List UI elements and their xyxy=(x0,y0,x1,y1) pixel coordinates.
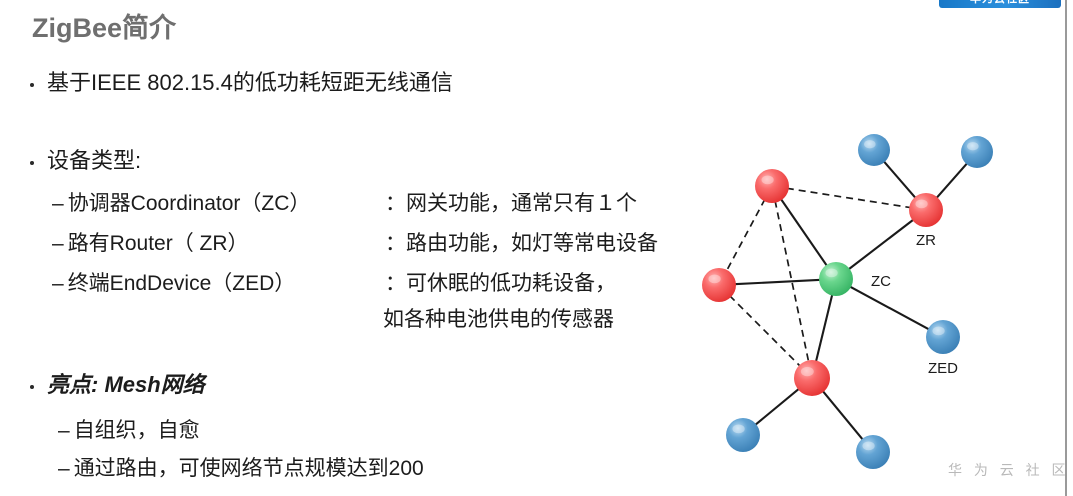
mesh-link-solid xyxy=(883,161,916,199)
sub-dash-marker: – xyxy=(58,457,70,481)
page-margin xyxy=(1067,0,1073,496)
bullet-highlight-text: 亮点: Mesh网络 xyxy=(47,372,205,398)
sub-dash-marker: – xyxy=(52,192,64,216)
mesh-link-solid xyxy=(816,294,833,363)
mesh-link-solid xyxy=(822,390,863,440)
device-type-name: 协调器Coordinator（ZC） xyxy=(68,187,311,217)
node-label-zc: ZC xyxy=(871,273,891,290)
sub-dash-marker: – xyxy=(58,419,70,443)
router-node[interactable] xyxy=(794,360,830,396)
zigbee-mesh-network-diagram: ZR ZC ZED xyxy=(690,110,1060,490)
node-highlight xyxy=(862,441,874,450)
device-type-row: – 协调器Coordinator（ZC） ：网关功能，通常只有１个 xyxy=(52,187,310,217)
node-highlight xyxy=(915,199,927,208)
device-type-desc-continuation: 如各种电池供电的传感器 xyxy=(383,303,614,333)
slide-body: 基于IEEE 802.15.4的低功耗短距无线通信 设备类型: – 协调器Coo… xyxy=(0,0,700,496)
device-type-desc: ：路由功能，如灯等常电设备 xyxy=(385,227,658,257)
device-type-desc: ：可休眠的低功耗设备， xyxy=(385,267,616,297)
slide-canvas: 华为云社区 ZigBee简介 基于IEEE 802.15.4的低功耗短距无线通信… xyxy=(0,0,1073,496)
router-node[interactable] xyxy=(909,193,943,227)
page-right-border xyxy=(1065,0,1067,496)
enddevice-node[interactable] xyxy=(856,435,890,469)
mesh-link-solid xyxy=(936,163,968,199)
mesh-link-solid xyxy=(849,286,930,330)
node-highlight xyxy=(761,175,773,184)
bullet-item-device-types: 设备类型: xyxy=(30,148,141,174)
bullet-item-intro: 基于IEEE 802.15.4的低功耗短距无线通信 xyxy=(30,70,453,96)
mesh-link-dashed xyxy=(730,296,801,367)
mesh-link-solid xyxy=(848,219,914,270)
device-type-name: 路有Router（ ZR） xyxy=(68,227,249,257)
enddevice-node[interactable] xyxy=(926,320,960,354)
bullet-intro-text: 基于IEEE 802.15.4的低功耗短距无线通信 xyxy=(47,70,453,96)
node-highlight xyxy=(801,367,814,376)
node-label-zed: ZED xyxy=(928,360,958,377)
corner-badge[interactable]: 华为云社区 xyxy=(939,0,1061,8)
node-highlight xyxy=(708,274,720,283)
device-type-row: – 路有Router（ ZR） ：路由功能，如灯等常电设备 xyxy=(52,227,249,257)
node-highlight xyxy=(732,424,744,433)
bullet-item-highlight: 亮点: Mesh网络 xyxy=(30,372,205,398)
mesh-link-solid xyxy=(781,198,828,266)
router-node[interactable] xyxy=(755,169,789,203)
mesh-link-dashed xyxy=(787,188,911,207)
node-highlight xyxy=(932,326,944,335)
node-highlight xyxy=(967,142,979,150)
mesh-link-dashed xyxy=(726,199,765,272)
sub-dash-marker: – xyxy=(52,232,64,256)
bullet-dot-icon xyxy=(30,161,34,165)
watermark: 华 为 云 社 区 xyxy=(948,460,1070,480)
mesh-point-text: 通过路由，可使网络节点规模达到200 xyxy=(74,452,424,482)
mesh-link-solid xyxy=(755,388,800,425)
coordinator-node[interactable] xyxy=(819,262,853,296)
network-topology-svg: ZR ZC ZED xyxy=(690,110,1060,490)
bullet-dot-icon xyxy=(30,385,34,389)
enddevice-node[interactable] xyxy=(726,418,760,452)
device-type-desc: ：网关功能，通常只有１个 xyxy=(385,187,637,217)
node-highlight xyxy=(864,140,876,148)
node-highlight xyxy=(825,268,837,277)
enddevice-node[interactable] xyxy=(858,134,890,166)
mesh-point-row: – 自组织，自愈 xyxy=(58,414,200,444)
mesh-point-text: 自组织，自愈 xyxy=(74,414,200,444)
router-node[interactable] xyxy=(702,268,736,302)
corner-badge-label: 华为云社区 xyxy=(939,0,1061,8)
mesh-link-solid xyxy=(734,280,821,284)
enddevice-node[interactable] xyxy=(961,136,993,168)
mesh-point-row: – 通过路由，可使网络节点规模达到200 xyxy=(58,452,424,482)
node-label-zr: ZR xyxy=(916,232,936,249)
device-type-name: 终端EndDevice（ZED） xyxy=(68,267,296,297)
sub-dash-marker: – xyxy=(52,272,64,296)
device-type-row: – 终端EndDevice（ZED） ：可休眠的低功耗设备， xyxy=(52,267,295,297)
bullet-device-types-text: 设备类型: xyxy=(47,148,141,174)
bullet-dot-icon xyxy=(30,83,34,87)
